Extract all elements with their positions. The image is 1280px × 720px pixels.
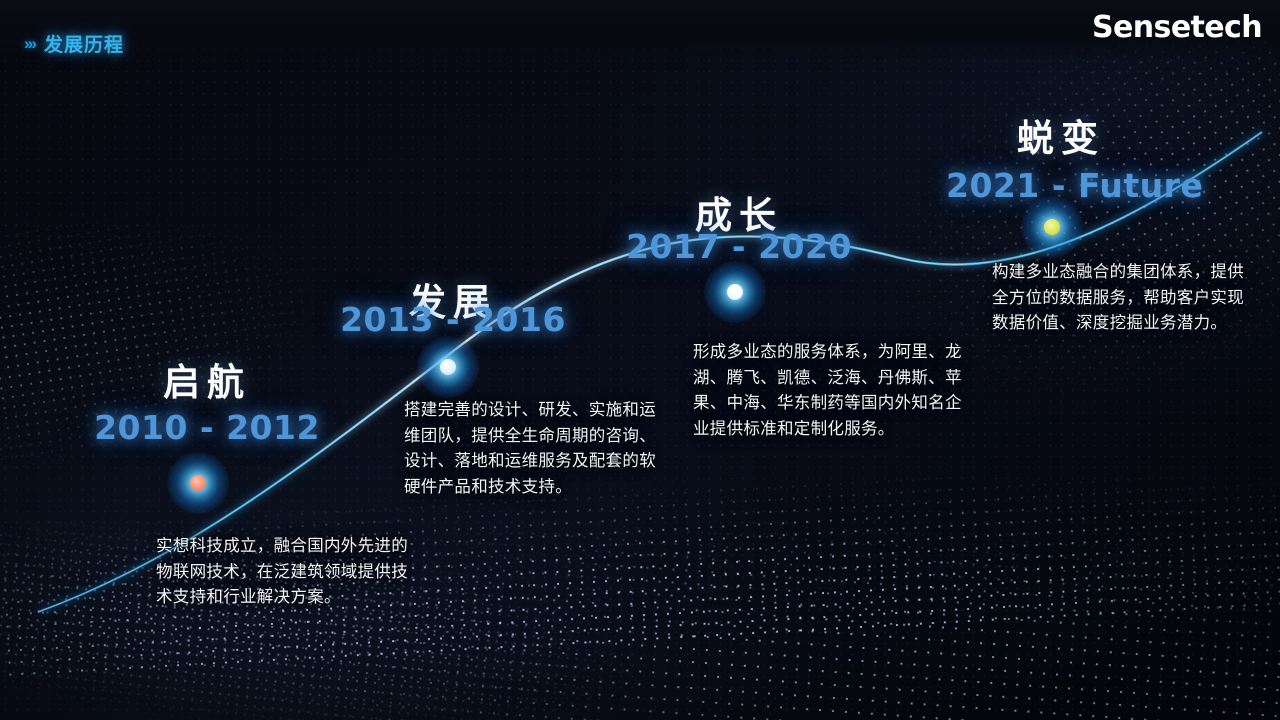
timeline-node-2017[interactable] <box>727 284 743 300</box>
timeline-node-2013[interactable] <box>440 359 456 375</box>
milestone-description: 构建多业态融合的集团体系，提供全方位的数据服务，帮助客户实现数据价值、深度挖掘业… <box>992 260 1254 337</box>
timeline-node-2010[interactable] <box>190 475 206 491</box>
milestone-years: 2010 - 2012 <box>92 408 322 447</box>
timeline-node-2021[interactable] <box>1044 219 1060 235</box>
node-core-icon <box>440 359 456 375</box>
triple-chevron-right-icon: ››› <box>24 34 35 54</box>
milestone-description: 搭建完善的设计、研发、实施和运维团队，提供全生命周期的咨询、设计、落地和运维服务… <box>404 398 656 501</box>
milestone-title: 启航 <box>92 352 322 406</box>
milestone-title: 蜕变 <box>946 108 1176 162</box>
page-title: 发展历程 <box>44 30 124 57</box>
node-core-icon <box>190 475 206 491</box>
milestone-years: 2017 - 2020 <box>624 227 854 266</box>
milestone-years: 2013 - 2016 <box>338 300 568 339</box>
node-core-icon <box>1044 219 1060 235</box>
brand-logo: Sensetech <box>1092 10 1262 45</box>
milestone-description: 形成多业态的服务体系，为阿里、龙湖、腾飞、凯德、泛海、丹佛斯、苹果、中海、华东制… <box>693 340 969 443</box>
node-core-icon <box>727 284 743 300</box>
milestone-description: 实想科技成立，融合国内外先进的物联网技术，在泛建筑领域提供技术支持和行业解决方案… <box>156 534 424 611</box>
slide-header: ››› 发展历程 Sensetech <box>0 0 1280 62</box>
section-label: ››› 发展历程 <box>24 30 124 57</box>
